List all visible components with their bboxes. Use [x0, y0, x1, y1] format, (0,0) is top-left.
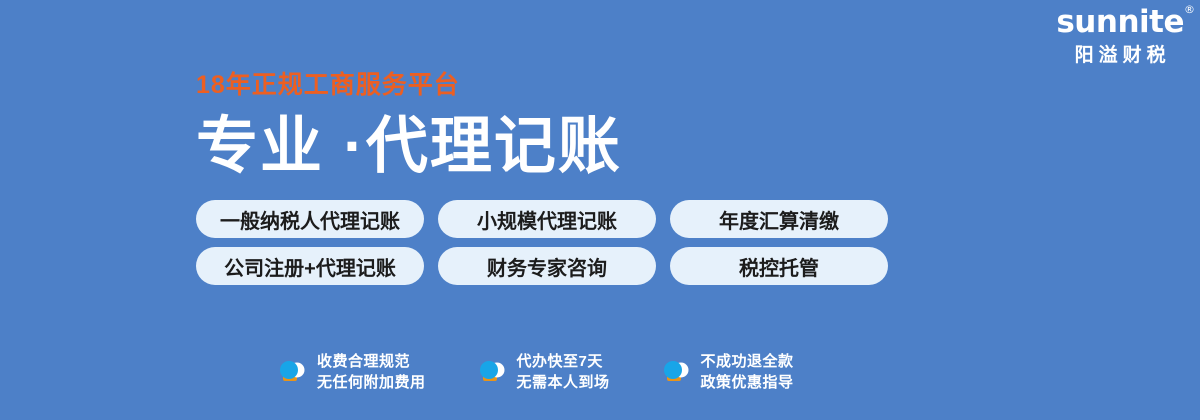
brand-logo[interactable]: sunnite ® 阳溢财税 [1056, 6, 1184, 65]
service-pill-company-registration[interactable]: 公司注册+代理记账 [196, 247, 424, 285]
hero-eyebrow: 18年正规工商服务平台 [196, 72, 622, 100]
hero-text-block: 18年正规工商服务平台 专业 ·代理记账 [196, 72, 622, 181]
promo-banner: sunnite ® 阳溢财税 18年正规工商服务平台 专业 ·代理记账 一般纳税… [0, 0, 1200, 420]
feature-line-2: 无任何附加费用 [317, 372, 426, 394]
feature-list: 收费合理规范 无任何附加费用 代办快至7天 无需本人到场 [276, 351, 794, 395]
feature-item-speed: 代办快至7天 无需本人到场 [476, 351, 610, 395]
service-pill-row: 公司注册+代理记账 财务专家咨询 税控托管 [196, 247, 888, 285]
service-pill-general-taxpayer[interactable]: 一般纳税人代理记账 [196, 200, 424, 238]
service-pill-row: 一般纳税人代理记账 小规模代理记账 年度汇算清缴 [196, 200, 888, 238]
service-pill-grid: 一般纳税人代理记账 小规模代理记账 年度汇算清缴 公司注册+代理记账 财务专家咨… [196, 200, 888, 285]
feature-line-1: 不成功退全款 [701, 351, 794, 373]
circle-crescent-icon [476, 357, 506, 387]
feature-text: 不成功退全款 政策优惠指导 [701, 351, 794, 395]
feature-text: 收费合理规范 无任何附加费用 [317, 351, 426, 395]
feature-text: 代办快至7天 无需本人到场 [517, 351, 610, 395]
feature-item-guarantee: 不成功退全款 政策优惠指导 [660, 351, 794, 395]
feature-line-2: 政策优惠指导 [701, 372, 794, 394]
service-pill-annual-settlement[interactable]: 年度汇算清缴 [670, 200, 888, 238]
feature-line-1: 收费合理规范 [317, 351, 426, 373]
feature-line-2: 无需本人到场 [517, 372, 610, 394]
logo-chinese-name: 阳溢财税 [1056, 46, 1184, 65]
circle-crescent-icon [276, 357, 306, 387]
feature-item-pricing: 收费合理规范 无任何附加费用 [276, 351, 426, 395]
registered-trademark-icon: ® [1184, 4, 1195, 15]
service-pill-small-scale[interactable]: 小规模代理记账 [438, 200, 656, 238]
logo-wordmark: sunnite [1056, 6, 1184, 39]
feature-line-1: 代办快至7天 [517, 351, 610, 373]
circle-crescent-icon [660, 357, 690, 387]
service-pill-tax-control-hosting[interactable]: 税控托管 [670, 247, 888, 285]
logo-wordmark-wrap: sunnite ® [1056, 6, 1184, 39]
service-pill-expert-consulting[interactable]: 财务专家咨询 [438, 247, 656, 285]
hero-headline: 专业 ·代理记账 [196, 112, 622, 181]
